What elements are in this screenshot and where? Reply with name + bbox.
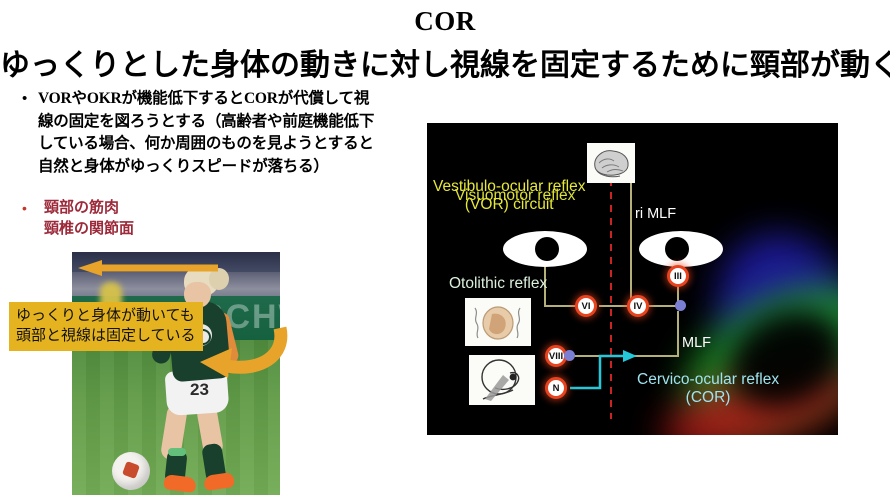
otolith-inset [465,298,531,346]
bullet-item: • VORやOKRが機能低下するとCORが代償して視 線の固定を図ろうとする（高… [22,88,422,178]
bullet-text: VORやOKRが機能低下するとCORが代償して視 線の固定を図ろうとする（高齢者… [38,88,374,178]
label-visuomotor: Visuomotor reflex [455,187,575,204]
page-title: COR [0,6,890,37]
bullet-line: している場合、何か周囲のものを見ようとすると [38,133,374,156]
bullet-block-primary: • VORやOKRが機能低下するとCORが代償して視 線の固定を図ろうとする（高… [22,88,422,178]
torso-rotation-arrow-icon [188,322,288,384]
bullet-line: 自然と身体がゆっくりスピードが落ちる） [38,156,374,179]
bullet-line: 線の固定を図ろうとする（高齢者や前庭機能低下 [38,111,374,134]
bullet-text: 頸部の筋肉 頸椎の関節面 [44,198,134,240]
vor-cor-circuit-diagram: VI IV III VIII N Vestibulo-ocular reflex… [427,123,838,435]
soccer-ball [112,452,150,490]
label-cor-line1: Cervico-ocular reflex [637,371,779,389]
synapse-dot [564,350,575,361]
bullet-block-secondary: • 頸部の筋肉 頸椎の関節面 [22,198,322,240]
page-subtitle: ゆっくりとした身体の動きに対し視線を固定するために頸部が動く [0,40,890,84]
otolith-organ-icon [465,298,531,346]
brain-inset [587,143,635,183]
photo-caption-box: ゆっくりと身体が動いても 頭部と視線は固定している [9,302,203,351]
body-motion-arrow-icon [76,260,218,276]
pupil-right [665,237,689,261]
nucleus-node-iv: IV [627,295,649,317]
bullet-line: VORやOKRが機能低下するとCORが代償して視 [38,88,374,111]
label-ri-mlf: ri MLF [635,206,676,222]
caption-line: ゆっくりと身体が動いても [16,306,196,326]
pupil-left [535,237,559,261]
nucleus-node-iii: III [667,265,689,287]
bullet-marker-icon: • [22,88,38,110]
label-otolithic: Otolithic reflex [449,275,547,293]
nucleus-node-vi: VI [575,295,597,317]
bullet-item: • 頸部の筋肉 頸椎の関節面 [22,198,322,240]
player-sock-band [168,448,186,456]
head-neck-icon [469,355,535,405]
slide-canvas: COR ゆっくりとした身体の動きに対し視線を固定するために頸部が動く • VOR… [0,0,890,500]
bullet-marker-icon: • [22,198,44,219]
label-mlf: MLF [682,335,711,351]
bullet-line: 頸椎の関節面 [44,219,134,240]
caption-line: 頭部と視線は固定している [16,326,196,346]
nucleus-node-n: N [545,377,567,399]
label-cor: Cervico-ocular reflex (COR) [637,371,779,407]
head-neck-inset [469,355,535,405]
label-cor-line2: (COR) [637,389,779,407]
bullet-line: 頸部の筋肉 [44,198,134,219]
brain-icon [587,143,635,183]
synapse-dot [675,300,686,311]
